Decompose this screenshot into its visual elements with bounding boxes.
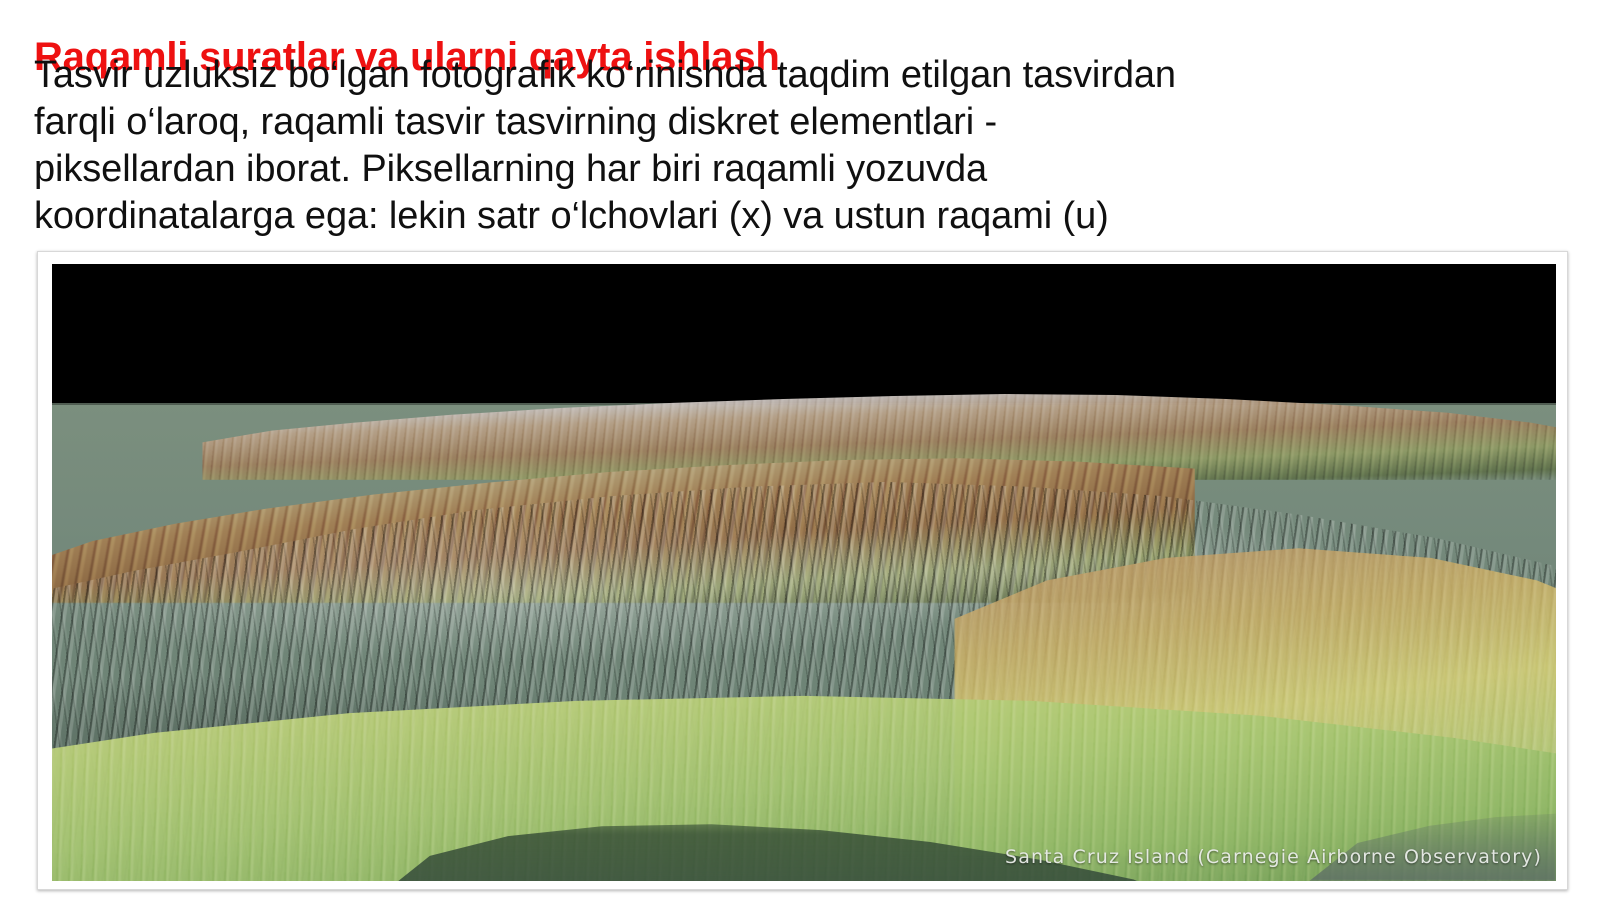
body-paragraph: Tasvir uzluksiz bo‘lgan fotografik ko‘ri… — [34, 52, 1579, 240]
body-line-4: koordinatalarga ega: lekin satr o‘lchovl… — [34, 193, 1579, 240]
terrain-visualization-image: Santa Cruz Island (Carnegie Airborne Obs… — [52, 264, 1556, 881]
figure-frame: Santa Cruz Island (Carnegie Airborne Obs… — [37, 251, 1568, 890]
figure-caption: Santa Cruz Island (Carnegie Airborne Obs… — [1005, 846, 1542, 868]
slide-root: Raqamli suratlar va ularni qayta ishlash… — [0, 0, 1600, 899]
body-line-3: piksellardan iborat. Piksellarning har b… — [34, 146, 1579, 193]
body-line-1: Tasvir uzluksiz bo‘lgan fotografik ko‘ri… — [34, 52, 1579, 99]
body-line-2: farqli o‘laroq, raqamli tasvir tasvirnin… — [34, 99, 1579, 146]
